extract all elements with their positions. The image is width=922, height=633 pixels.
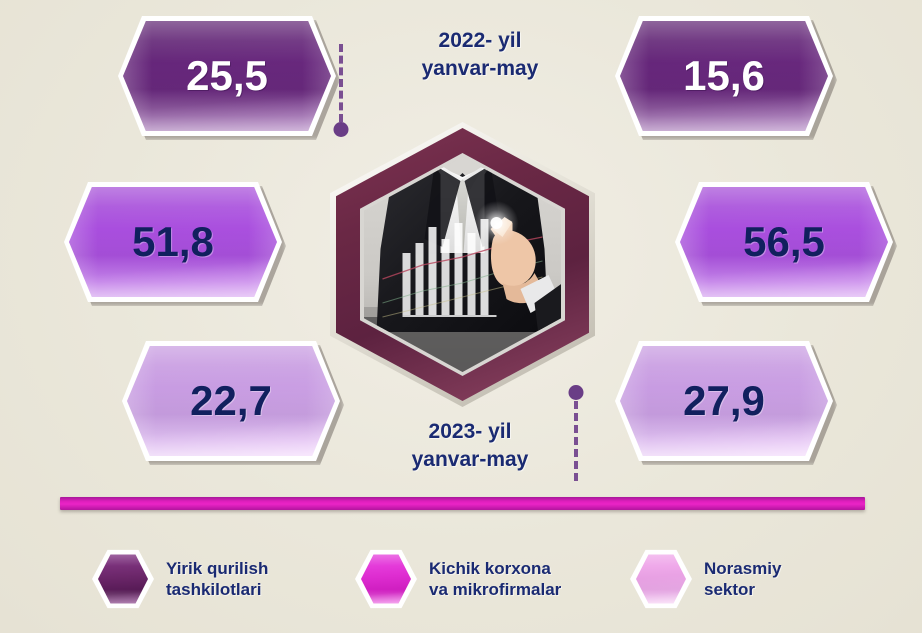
legend-swatch-icon — [630, 548, 692, 610]
hexagon-fill: 51,8 — [69, 187, 277, 297]
value-hexagon-left-small-business[interactable]: 51,8 — [64, 182, 282, 302]
infographic-canvas: 2022- yil yanvar-may 2023- yil yanvar-ma… — [0, 0, 922, 633]
period-title-top: 2022- yil yanvar-may — [360, 27, 600, 82]
hexagon-fill: 15,6 — [620, 21, 828, 131]
legend-swatch-icon — [92, 548, 154, 610]
legend-swatch-icon — [355, 548, 417, 610]
center-photo-hexagon — [330, 122, 595, 407]
value-hexagon-right-informal-sector[interactable]: 27,9 — [615, 341, 833, 461]
hexagon-fill: 27,9 — [620, 346, 828, 456]
legend-label: Kichik korxona va mikrofirmalar — [429, 558, 561, 601]
hexagon-value: 27,9 — [683, 380, 765, 422]
hexagon-value: 51,8 — [132, 221, 214, 263]
hexagon-fill: 25,5 — [123, 21, 331, 131]
value-hexagon-right-small-business[interactable]: 56,5 — [675, 182, 893, 302]
hexagon-fill: 56,5 — [680, 187, 888, 297]
hexagon-value: 15,6 — [683, 55, 765, 97]
hexagon-value: 25,5 — [186, 55, 268, 97]
magenta-divider-bar — [60, 497, 865, 510]
hexagon-fill: 22,7 — [127, 346, 335, 456]
legend-item-informal-sector[interactable]: Norasmiy sektor — [630, 548, 781, 610]
value-hexagon-right-large-construction[interactable]: 15,6 — [615, 16, 833, 136]
connector-dashed-line — [339, 44, 343, 122]
period-title-bottom: 2023- yil yanvar-may — [350, 418, 590, 473]
hexagon-value: 56,5 — [743, 221, 825, 263]
legend-item-small-business[interactable]: Kichik korxona va mikrofirmalar — [355, 548, 561, 610]
legend-label: Norasmiy sektor — [704, 558, 781, 601]
connector-dashed-line — [574, 401, 578, 481]
hexagon-value: 22,7 — [190, 380, 272, 422]
legend-label: Yirik qurilish tashkilotlari — [166, 558, 268, 601]
legend-swatch-fill — [98, 553, 148, 605]
value-hexagon-left-large-construction[interactable]: 25,5 — [118, 16, 336, 136]
value-hexagon-left-informal-sector[interactable]: 22,7 — [122, 341, 340, 461]
legend-item-large-construction[interactable]: Yirik qurilish tashkilotlari — [92, 548, 268, 610]
legend-swatch-fill — [361, 553, 411, 605]
legend-swatch-fill — [636, 553, 686, 605]
